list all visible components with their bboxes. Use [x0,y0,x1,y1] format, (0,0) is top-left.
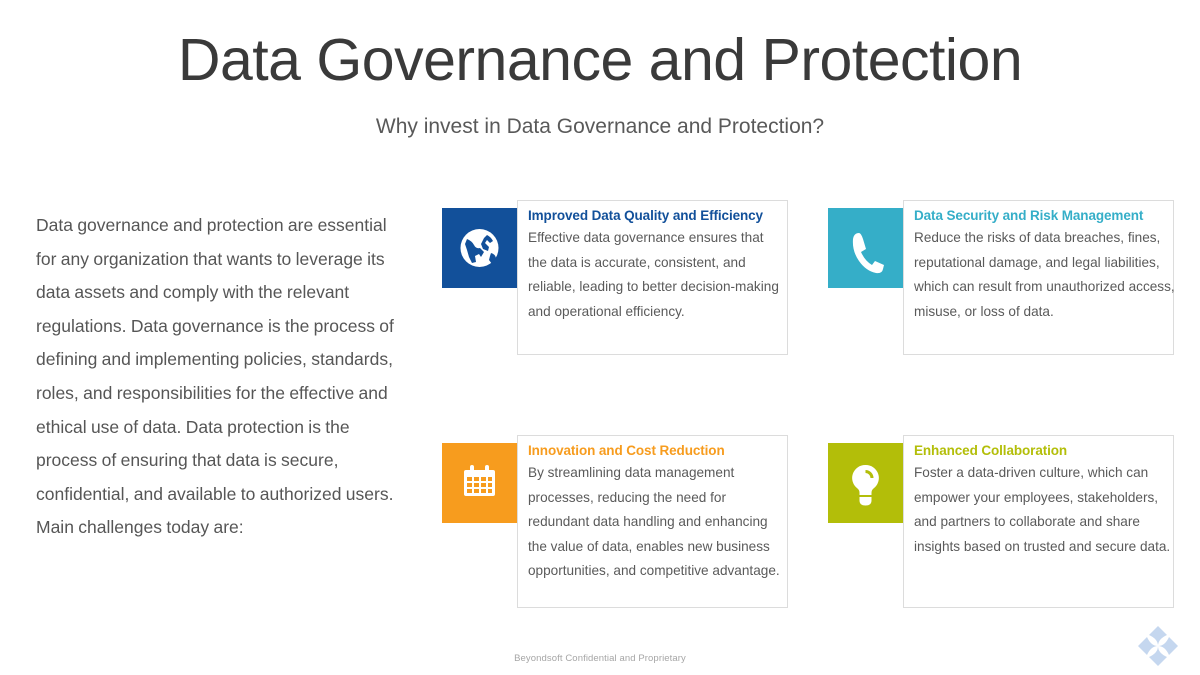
benefit-card[interactable]: Improved Data Quality and Efficiency Eff… [442,200,788,355]
lightbulb-icon [828,443,903,523]
benefit-card-title: Innovation and Cost Reduction [528,442,786,459]
benefit-card[interactable]: Enhanced Collaboration Foster a data-dri… [828,435,1174,608]
benefit-card[interactable]: Data Security and Risk Management Reduce… [828,200,1174,355]
benefit-card-icon-tile [442,208,517,288]
confidentiality-note: Beyondsoft Confidential and Proprietary [0,653,1200,664]
intro-paragraph: Data governance and protection are essen… [36,209,408,545]
benefit-card-text: Enhanced Collaboration Foster a data-dri… [914,442,1176,559]
benefit-card-description: Foster a data-driven culture, which can … [914,461,1176,559]
benefit-card-title: Improved Data Quality and Efficiency [528,207,786,224]
benefit-card-text: Innovation and Cost Reduction By streaml… [528,442,786,584]
brand-logo [1134,622,1182,670]
benefit-card-text: Improved Data Quality and Efficiency Eff… [528,207,786,324]
benefit-card-title: Data Security and Risk Management [914,207,1176,224]
benefit-card-icon-tile [442,443,517,523]
benefit-card-text: Data Security and Risk Management Reduce… [914,207,1176,324]
calendar-icon [442,443,517,523]
benefit-card-description: Reduce the risks of data breaches, fines… [914,226,1176,324]
page-subtitle: Why invest in Data Governance and Protec… [0,114,1200,139]
slide-canvas: Data Governance and Protection Why inves… [0,0,1200,675]
benefit-card-icon-tile [828,443,903,523]
globe-icon [442,208,517,288]
benefit-card-title: Enhanced Collaboration [914,442,1176,459]
page-title: Data Governance and Protection [0,30,1200,92]
benefit-card-description: By streamlining data management processe… [528,461,786,584]
benefit-card-icon-tile [828,208,903,288]
beyondsoft-flower-icon [1134,622,1182,670]
phone-icon [828,208,903,288]
benefit-card-description: Effective data governance ensures that t… [528,226,786,324]
benefit-card[interactable]: Innovation and Cost Reduction By streaml… [442,435,788,608]
